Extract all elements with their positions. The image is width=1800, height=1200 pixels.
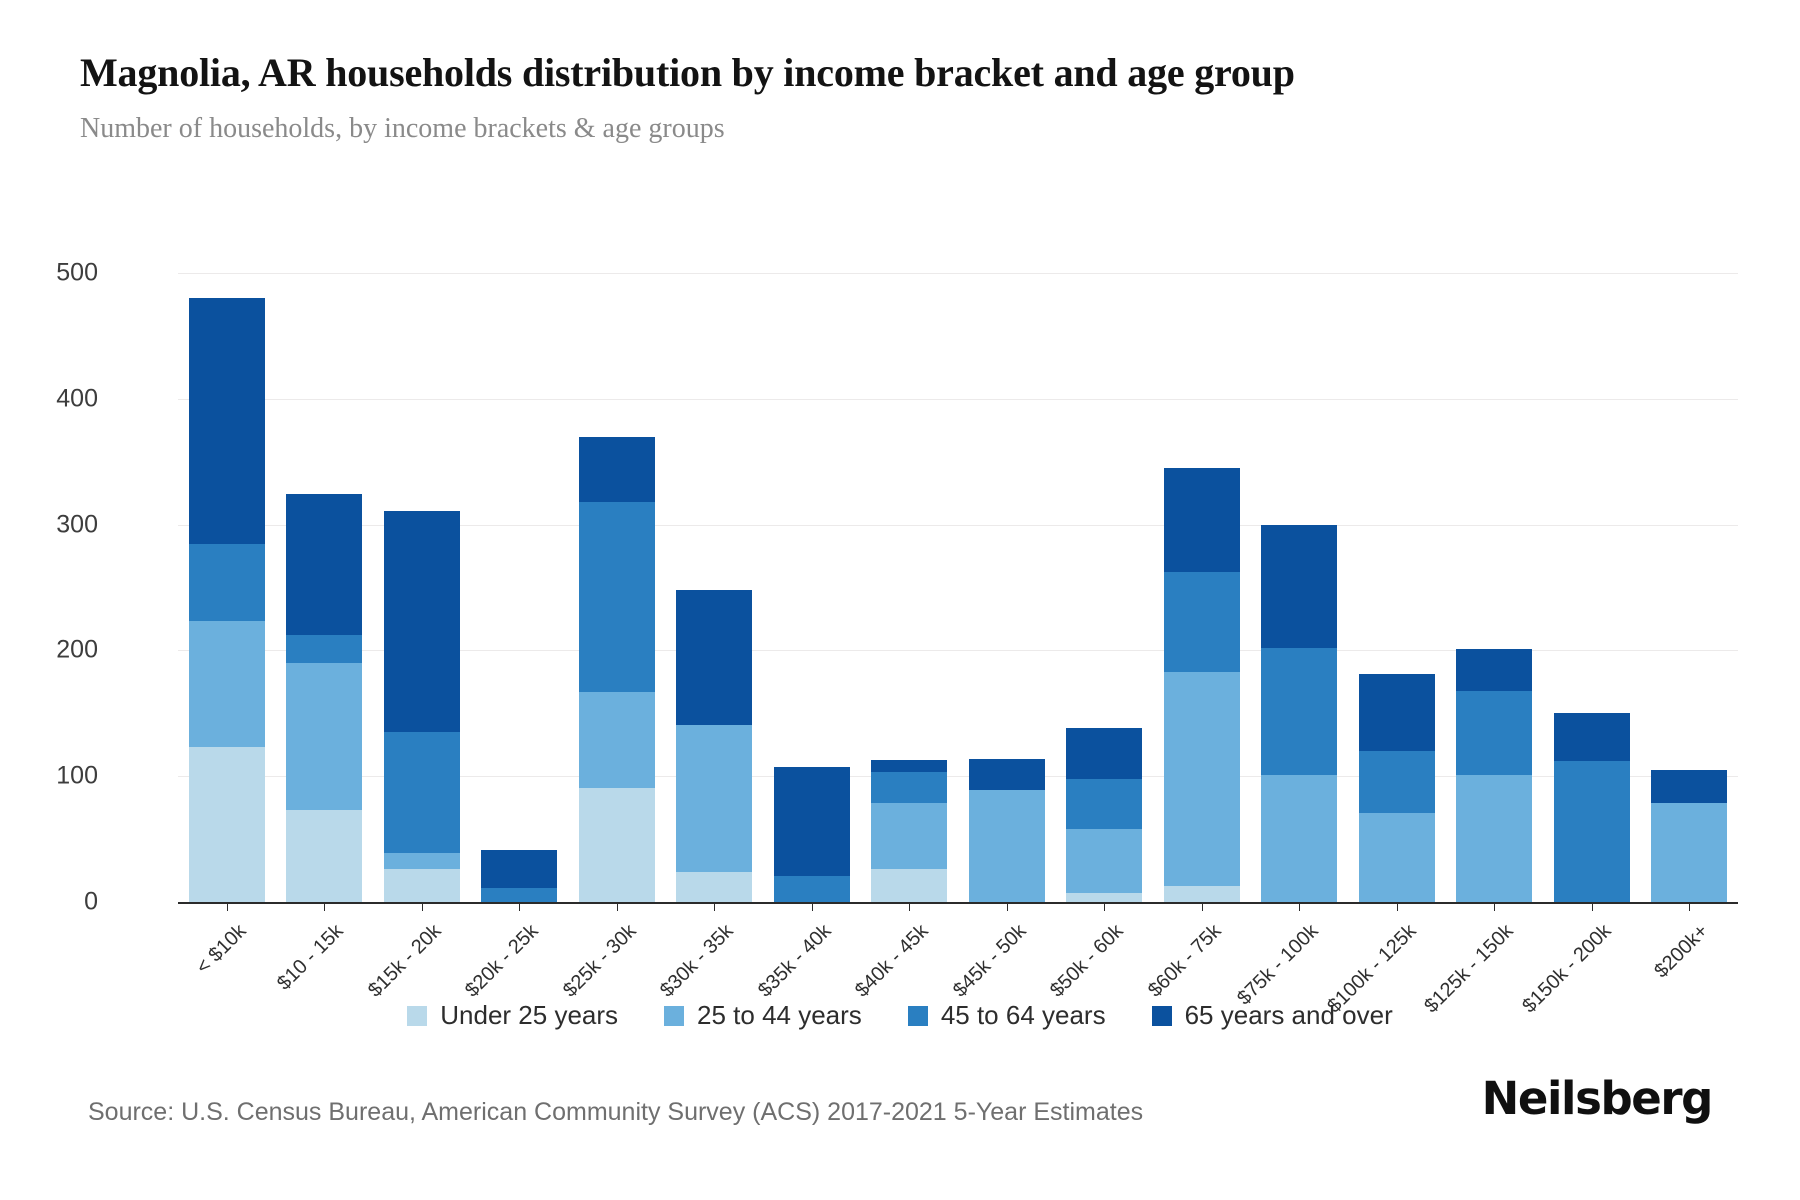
y-axis-tick-label: 200 [0, 636, 98, 665]
stacked-bar[interactable] [774, 767, 850, 902]
bar-slot[interactable] [1066, 273, 1142, 902]
bar-slot[interactable] [676, 273, 752, 902]
stacked-bar[interactable] [1456, 649, 1532, 902]
legend-label: 45 to 64 years [941, 1000, 1106, 1031]
bar-segment[interactable] [871, 760, 947, 773]
bars-group [178, 273, 1738, 902]
bar-segment[interactable] [676, 872, 752, 902]
bar-segment[interactable] [286, 494, 362, 635]
bar-slot[interactable] [286, 273, 362, 902]
bar-segment[interactable] [676, 725, 752, 872]
x-axis-tick-label: $50k - 60k [1046, 920, 1128, 1002]
bar-segment[interactable] [189, 544, 265, 622]
x-axis-tick-label: $30k - 35k [656, 920, 738, 1002]
bar-segment[interactable] [1651, 770, 1727, 803]
bar-segment[interactable] [1164, 672, 1240, 886]
bar-segment[interactable] [1456, 649, 1532, 691]
x-axis-tick [1592, 902, 1593, 911]
bar-slot[interactable] [1261, 273, 1337, 902]
bar-segment[interactable] [481, 888, 557, 902]
bar-segment[interactable] [286, 635, 362, 663]
bar-segment[interactable] [579, 788, 655, 902]
legend-swatch-icon [407, 1006, 427, 1026]
bar-slot[interactable] [579, 273, 655, 902]
y-axis-tick-label: 0 [0, 888, 98, 917]
legend-label: 25 to 44 years [697, 1000, 862, 1031]
legend-swatch-icon [908, 1006, 928, 1026]
x-axis-tick [812, 902, 813, 911]
x-axis-tick-label: $200k+ [1650, 920, 1713, 983]
stacked-bar[interactable] [1359, 674, 1435, 902]
bar-segment[interactable] [384, 732, 460, 853]
bar-segment[interactable] [871, 803, 947, 870]
bar-segment[interactable] [969, 759, 1045, 790]
stacked-bar[interactable] [384, 511, 460, 902]
chart-page: Magnolia, AR households distribution by … [0, 0, 1800, 1200]
x-axis-tick-label: $45k - 50k [949, 920, 1031, 1002]
bar-segment[interactable] [1164, 886, 1240, 902]
bar-segment[interactable] [1261, 648, 1337, 775]
bar-segment[interactable] [1066, 728, 1142, 778]
bar-slot[interactable] [1456, 273, 1532, 902]
bar-segment[interactable] [1554, 713, 1630, 761]
x-axis-tick-label: $40k - 45k [851, 920, 933, 1002]
x-axis-tick [1007, 902, 1008, 911]
bar-slot[interactable] [481, 273, 557, 902]
bar-segment[interactable] [1359, 674, 1435, 751]
x-axis-tick [1299, 902, 1300, 911]
bar-segment[interactable] [1066, 779, 1142, 829]
bar-segment[interactable] [1359, 751, 1435, 813]
x-axis-tick [1689, 902, 1690, 911]
legend-swatch-icon [1152, 1006, 1172, 1026]
bar-segment[interactable] [871, 869, 947, 902]
bar-slot[interactable] [1164, 273, 1240, 902]
bar-segment[interactable] [189, 621, 265, 747]
bar-segment[interactable] [1261, 775, 1337, 902]
bar-slot[interactable] [1554, 273, 1630, 902]
x-axis-tick [617, 902, 618, 911]
bar-slot[interactable] [774, 273, 850, 902]
bar-segment[interactable] [774, 876, 850, 902]
bar-slot[interactable] [969, 273, 1045, 902]
bar-segment[interactable] [579, 437, 655, 502]
bar-segment[interactable] [384, 511, 460, 732]
bar-segment[interactable] [189, 747, 265, 902]
bar-segment[interactable] [579, 502, 655, 692]
bar-segment[interactable] [1164, 572, 1240, 671]
x-axis-tick-label: $10 - 15k [273, 920, 348, 995]
x-axis-tick [227, 902, 228, 911]
x-axis-tick [1397, 902, 1398, 911]
stacked-bar[interactable] [1066, 728, 1142, 902]
bar-segment[interactable] [1164, 468, 1240, 572]
stacked-bar[interactable] [189, 298, 265, 902]
x-axis-tick [519, 902, 520, 911]
y-axis-tick-label: 400 [0, 384, 98, 413]
stacked-bar[interactable] [1651, 770, 1727, 902]
legend-item[interactable]: 45 to 64 years [908, 1000, 1106, 1031]
x-axis-tick-label: $20k - 25k [461, 920, 543, 1002]
x-axis-tick [422, 902, 423, 911]
bar-segment[interactable] [579, 692, 655, 788]
x-axis-tick [1494, 902, 1495, 911]
bar-segment[interactable] [1359, 813, 1435, 902]
x-axis-tick [714, 902, 715, 911]
bar-segment[interactable] [1651, 803, 1727, 902]
chart-legend: Under 25 years25 to 44 years45 to 64 yea… [0, 1000, 1800, 1031]
stacked-bar[interactable] [1164, 468, 1240, 902]
y-axis-tick-label: 100 [0, 762, 98, 791]
bar-segment[interactable] [969, 790, 1045, 902]
y-axis-tick-label: 300 [0, 510, 98, 539]
stacked-bar[interactable] [579, 437, 655, 902]
x-axis-tick-label: $25k - 30k [559, 920, 641, 1002]
bar-segment[interactable] [286, 663, 362, 810]
bar-segment[interactable] [1554, 761, 1630, 902]
chart-footer: Source: U.S. Census Bureau, American Com… [0, 1090, 1800, 1160]
legend-label: 65 years and over [1185, 1000, 1393, 1031]
source-note: Source: U.S. Census Bureau, American Com… [88, 1098, 1143, 1127]
stacked-bar[interactable] [481, 850, 557, 902]
legend-swatch-icon [664, 1006, 684, 1026]
x-axis-tick [1202, 902, 1203, 911]
bar-segment[interactable] [286, 810, 362, 902]
x-axis-tick-label: $35k - 40k [754, 920, 836, 1002]
legend-label: Under 25 years [440, 1000, 618, 1031]
legend-item[interactable]: Under 25 years [407, 1000, 618, 1031]
bar-slot[interactable] [1359, 273, 1435, 902]
bar-segment[interactable] [189, 298, 265, 543]
bar-segment[interactable] [871, 772, 947, 802]
bar-segment[interactable] [774, 767, 850, 875]
stacked-bar[interactable] [1261, 525, 1337, 902]
legend-item[interactable]: 25 to 44 years [664, 1000, 862, 1031]
bar-segment[interactable] [676, 590, 752, 725]
bar-slot[interactable] [384, 273, 460, 902]
plot-area: 0100200300400500 [178, 273, 1738, 902]
x-axis-tick-label: $15k - 20k [364, 920, 446, 1002]
brand-logo: Neilsberg [1482, 1072, 1712, 1125]
bar-segment[interactable] [1456, 691, 1532, 775]
bar-segment[interactable] [1456, 775, 1532, 902]
bar-slot[interactable] [1651, 273, 1727, 902]
x-axis-tick-label: $75k - 100k [1233, 920, 1323, 1010]
stacked-bar[interactable] [969, 759, 1045, 902]
x-axis-tick [909, 902, 910, 911]
bar-segment[interactable] [481, 850, 557, 888]
x-axis-tick-label: $60k - 75k [1144, 920, 1226, 1002]
bar-segment[interactable] [1066, 829, 1142, 893]
stacked-bar[interactable] [676, 590, 752, 902]
stacked-bar[interactable] [286, 494, 362, 902]
y-axis-tick-label: 500 [0, 259, 98, 288]
bar-segment[interactable] [1066, 893, 1142, 902]
stacked-bar[interactable] [1554, 713, 1630, 902]
x-axis-tick [1104, 902, 1105, 911]
bar-slot[interactable] [871, 273, 947, 902]
bar-segment[interactable] [384, 853, 460, 869]
x-axis-tick [324, 902, 325, 911]
x-axis-tick-label: < $10k [192, 920, 251, 979]
legend-item[interactable]: 65 years and over [1152, 1000, 1393, 1031]
bar-slot[interactable] [189, 273, 265, 902]
bar-segment[interactable] [1261, 525, 1337, 648]
bar-segment[interactable] [384, 869, 460, 902]
stacked-bar[interactable] [871, 760, 947, 902]
